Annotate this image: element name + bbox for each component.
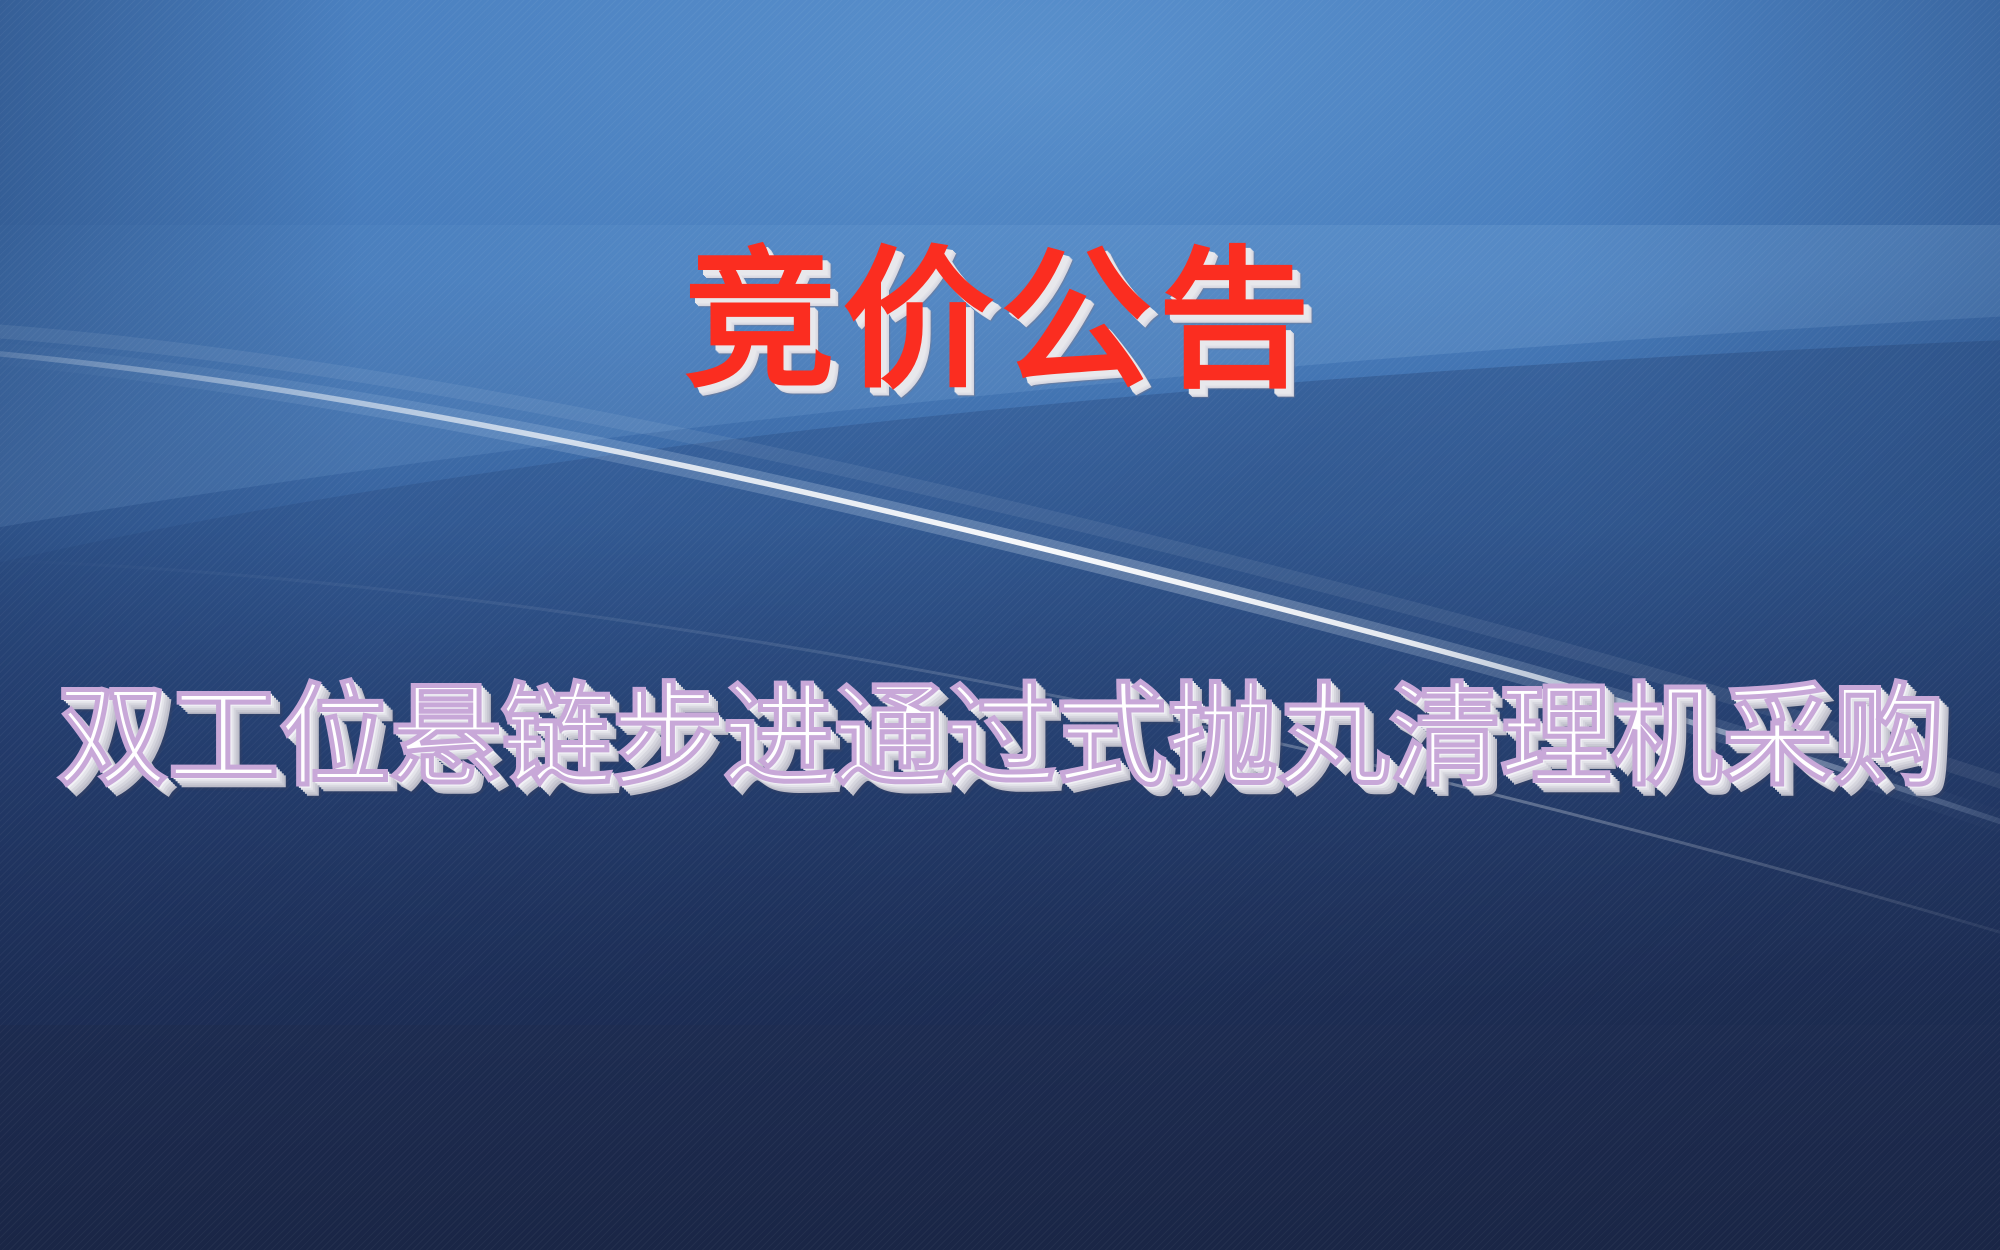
- slide-subtitle: 双工位悬链步进通过式抛丸清理机采购: [0, 676, 2000, 799]
- swoosh-highlight-curve: [0, 0, 2000, 1250]
- diagonal-hairline-texture: [0, 0, 2000, 1250]
- slide-title: 竞价公告: [0, 236, 2000, 406]
- presentation-slide: 竞价公告 双工位悬链步进通过式抛丸清理机采购: [0, 0, 2000, 1250]
